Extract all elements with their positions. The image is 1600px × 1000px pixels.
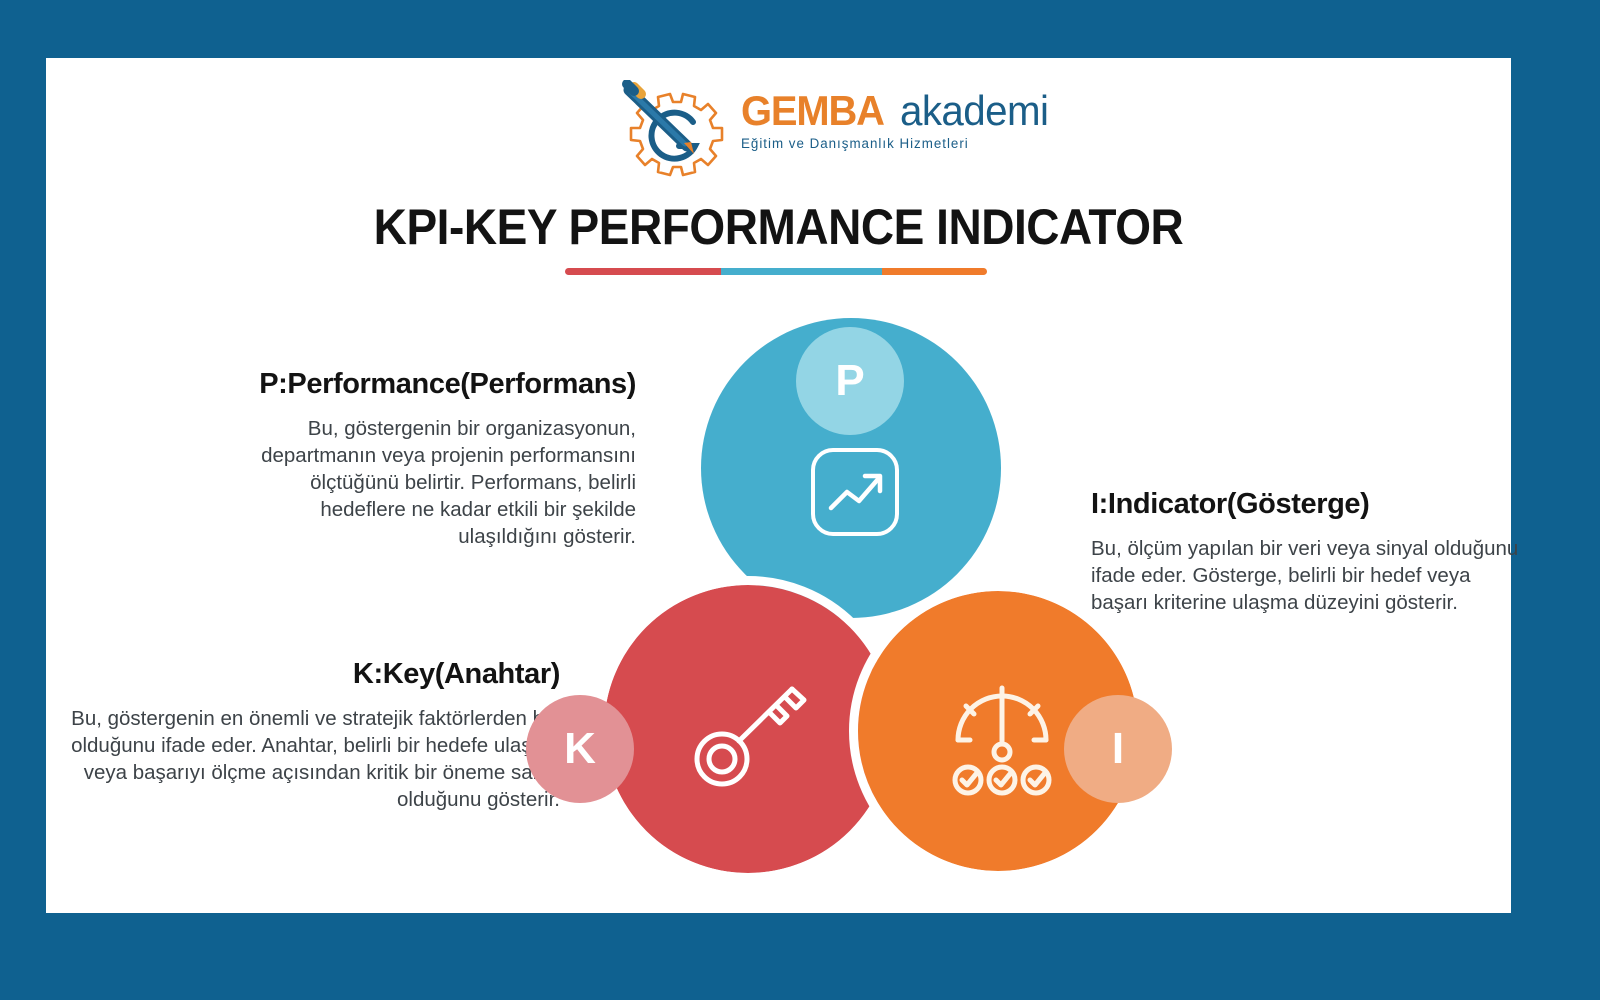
divider-segment-orange — [882, 268, 988, 275]
kpi-circle-cluster: P K I — [476, 318, 1176, 918]
badge-performance: P — [796, 327, 904, 435]
brand-logo: GEMBA akademi Eğitim ve Danışmanlık Hizm… — [615, 76, 1015, 186]
gauge-checklist-icon — [938, 676, 1066, 796]
logo-tagline: Eğitim ve Danışmanlık Hizmetleri — [741, 136, 1010, 151]
badge-indicator: I — [1064, 695, 1172, 803]
logo-brand-primary: GEMBA — [741, 90, 884, 132]
pencil-gear-icon — [615, 80, 735, 185]
divider-segment-red — [565, 268, 721, 275]
divider-segment-blue — [721, 268, 881, 275]
page-title: KPI-KEY PERFORMANCE INDICATOR — [105, 198, 1453, 256]
trending-up-chart-icon — [809, 446, 901, 538]
infographic-canvas: GEMBA akademi Eğitim ve Danışmanlık Hizm… — [0, 0, 1600, 1000]
key-icon — [688, 673, 816, 793]
badge-key: K — [526, 695, 634, 803]
content-card: GEMBA akademi Eğitim ve Danışmanlık Hizm… — [46, 58, 1511, 913]
logo-brand-secondary: akademi — [900, 90, 1048, 132]
title-divider — [565, 268, 987, 275]
logo-wordmark: GEMBA akademi Eğitim ve Danışmanlık Hizm… — [741, 90, 1013, 151]
